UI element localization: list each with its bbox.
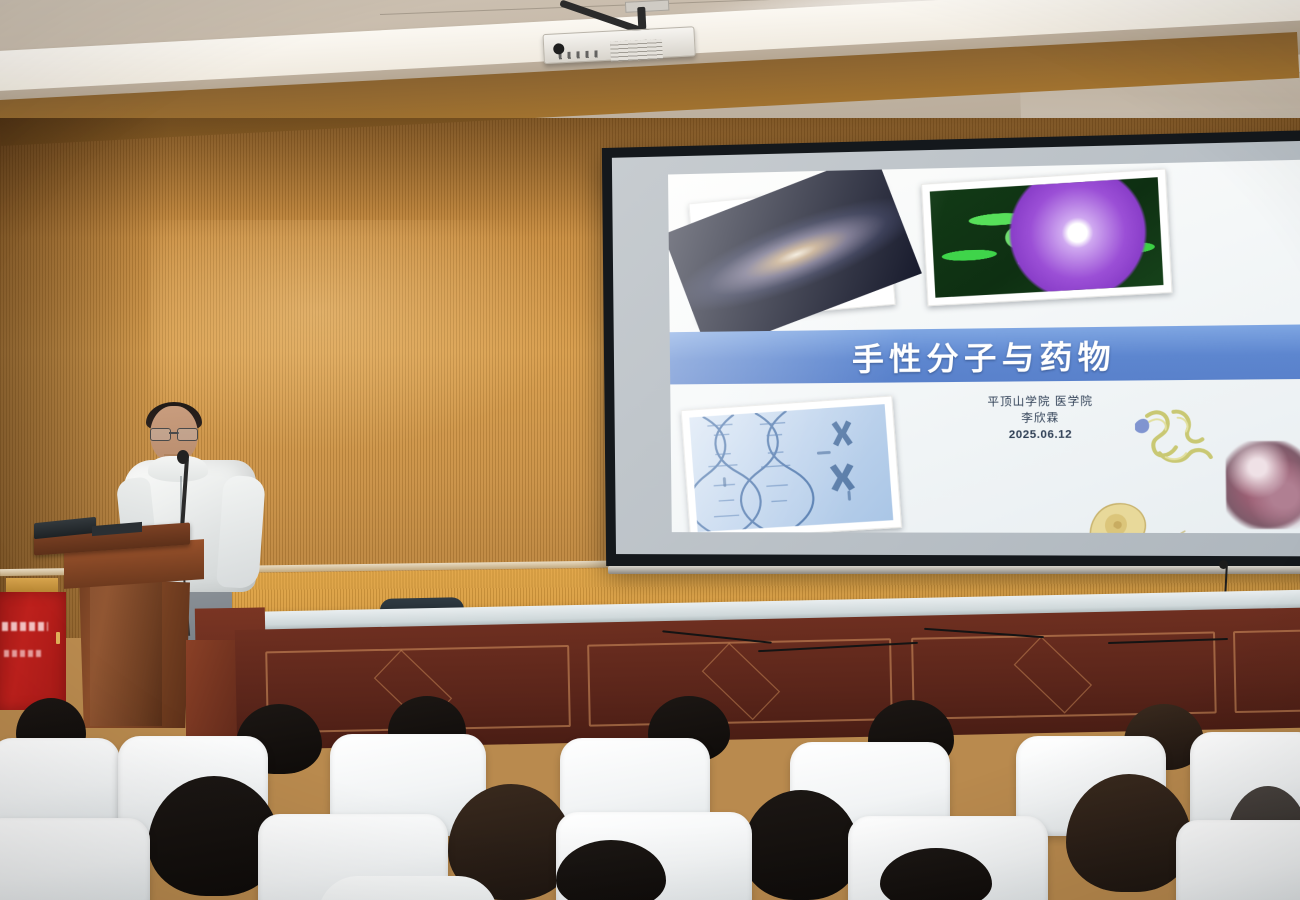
- lecture-hall-photo: 手性分子与药物: [0, 0, 1300, 900]
- audience-seat: [0, 818, 150, 900]
- slide-byline: 平顶山学院 医学院 李欣霖 2025.06.12: [920, 394, 1163, 445]
- audience: [0, 690, 1300, 900]
- eyeglasses-icon: [150, 428, 198, 439]
- dna-helix-drawing: [689, 404, 893, 532]
- presenter-right-arm: [216, 475, 266, 590]
- audience-seat: [1176, 820, 1300, 900]
- microphone-icon: [177, 450, 189, 464]
- slide-title-band: 手性分子与药物: [670, 324, 1300, 384]
- protein-blob-graphic: [1226, 441, 1300, 529]
- fire-cabinet-sublabel: [4, 650, 42, 657]
- presentation-slide: 手性分子与药物: [668, 160, 1300, 534]
- projector-mount-arm: [637, 7, 646, 29]
- projector-control-buttons: [558, 50, 602, 59]
- protein-molecule-graphic: [1128, 402, 1221, 477]
- projector-vent-grille: [610, 39, 663, 62]
- morning-glory-photo: [921, 168, 1173, 306]
- snail-graphic: [1082, 487, 1185, 533]
- audience-head: [1066, 774, 1192, 892]
- slide-title: 手性分子与药物: [670, 324, 1300, 384]
- audience-shoulder: [318, 876, 498, 900]
- presenter-name-text: 李欣霖: [920, 410, 1163, 428]
- galaxy-photo: [688, 185, 895, 322]
- slide-date-text: 2025.06.12: [920, 427, 1163, 445]
- screen-surface: 手性分子与药物: [612, 140, 1300, 556]
- dna-chromosome-photo: [681, 395, 902, 533]
- affiliation-text: 平顶山学院 医学院: [920, 394, 1163, 412]
- projection-screen: 手性分子与药物: [602, 130, 1300, 569]
- screen-bottom-rail: [608, 566, 1300, 574]
